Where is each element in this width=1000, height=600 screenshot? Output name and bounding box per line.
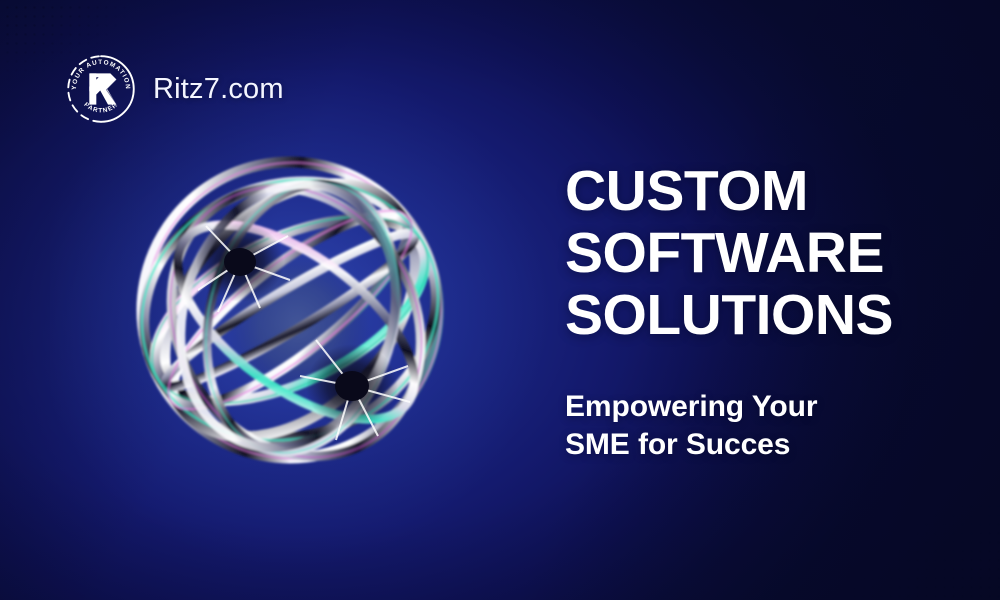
chrome-wireframe-orb-graphic: [120, 140, 480, 500]
headline-line-2: SOFTWARE: [565, 222, 965, 284]
hero-banner: YOUR AUTOMATION PARTNER Ritz7.com: [0, 0, 1000, 600]
brand-wordmark: Ritz7.com: [153, 75, 284, 104]
subheading-line-1: Empowering Your: [565, 388, 945, 426]
page-subtitle: Empowering Your SME for Succes: [565, 388, 945, 464]
ritz7-r-monogram-icon[interactable]: YOUR AUTOMATION PARTNER: [62, 50, 140, 128]
headline-line-1: CUSTOM: [565, 160, 965, 222]
logo-lockup[interactable]: YOUR AUTOMATION PARTNER Ritz7.com: [62, 50, 284, 128]
headline-line-3: SOLUTIONS: [565, 284, 965, 346]
subheading-line-2: SME for Succes: [565, 426, 945, 464]
hero-copy-block: CUSTOM SOFTWARE SOLUTIONS Empowering You…: [565, 160, 965, 346]
page-title: CUSTOM SOFTWARE SOLUTIONS: [565, 160, 965, 346]
